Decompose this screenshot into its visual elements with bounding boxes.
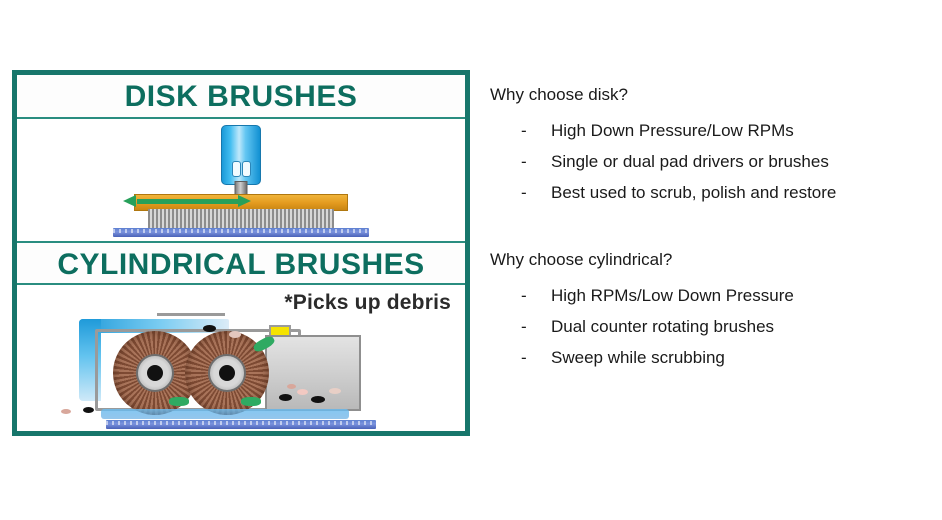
cylindrical-brushes-title: CYLINDRICAL BRUSHES: [17, 241, 465, 285]
heading-why-choose-cylindrical: Why choose cylindrical?: [490, 249, 920, 271]
list-item: - Best used to scrub, polish and restore: [490, 184, 920, 201]
picks-up-debris-note: *Picks up debris: [284, 291, 451, 315]
bullet-marker: -: [490, 318, 551, 335]
brush-comparison-infographic: DISK BRUSHES CYLINDRICAL BRUSHES *Picks …: [12, 70, 470, 436]
section-spacer: [490, 215, 920, 249]
machine-frame-lip: [157, 313, 225, 316]
cylindrical-benefits-list: - High RPMs/Low Down Pressure - Dual cou…: [490, 287, 920, 366]
list-item-label: Dual counter rotating brushes: [551, 318, 920, 335]
disk-brushes-title: DISK BRUSHES: [17, 75, 465, 119]
roller-core: [219, 365, 235, 381]
rotation-arrow-head-right-icon: [238, 195, 251, 207]
list-item-label: High Down Pressure/Low RPMs: [551, 122, 920, 139]
debris-particle: [229, 331, 241, 338]
debris-particle: [279, 394, 292, 401]
floor-surface-cylindrical: [106, 420, 376, 429]
debris-particle: [287, 384, 296, 389]
list-item: - Sweep while scrubbing: [490, 349, 920, 366]
list-item-label: Sweep while scrubbing: [551, 349, 920, 366]
bullet-marker: -: [490, 287, 551, 304]
floor-texture: [113, 229, 369, 233]
roller-core: [147, 365, 163, 381]
cylindrical-brush-illustration: *Picks up debris: [17, 285, 465, 433]
debris-particle: [203, 325, 216, 332]
motor-housing-icon: [221, 125, 261, 185]
roller-hub: [208, 354, 246, 392]
floor-surface-disk: [113, 228, 369, 237]
list-item: - High RPMs/Low Down Pressure: [490, 287, 920, 304]
explanation-text-column: Why choose disk? - High Down Pressure/Lo…: [490, 84, 920, 380]
debris-particle: [83, 407, 94, 413]
bullet-marker: -: [490, 122, 551, 139]
debris-particle: [61, 409, 71, 414]
bullet-marker: -: [490, 349, 551, 366]
list-item: - Dual counter rotating brushes: [490, 318, 920, 335]
disk-benefits-list: - High Down Pressure/Low RPMs - Single o…: [490, 122, 920, 201]
motor-slot-right-icon: [242, 161, 251, 177]
heading-why-choose-disk: Why choose disk?: [490, 84, 920, 106]
list-item-label: Best used to scrub, polish and restore: [551, 184, 920, 201]
rotation-arrow-bar-right: [189, 199, 241, 204]
list-item-label: High RPMs/Low Down Pressure: [551, 287, 920, 304]
rotation-arrow-head-left-icon: [123, 195, 136, 207]
disk-brush-illustration: [17, 119, 465, 241]
splash-fleck: [241, 397, 261, 406]
debris-particle: [311, 396, 325, 403]
bullet-marker: -: [490, 184, 551, 201]
debris-particle: [329, 388, 341, 394]
roller-hub: [136, 354, 174, 392]
bullet-marker: -: [490, 153, 551, 170]
splash-fleck: [169, 397, 189, 406]
list-item-label: Single or dual pad drivers or brushes: [551, 153, 920, 170]
floor-texture: [106, 421, 376, 425]
debris-particle: [297, 389, 308, 395]
motor-slot-left-icon: [232, 161, 241, 177]
list-item: - High Down Pressure/Low RPMs: [490, 122, 920, 139]
list-item: - Single or dual pad drivers or brushes: [490, 153, 920, 170]
water-film: [101, 409, 349, 419]
debris-hopper-icon: [265, 335, 361, 411]
